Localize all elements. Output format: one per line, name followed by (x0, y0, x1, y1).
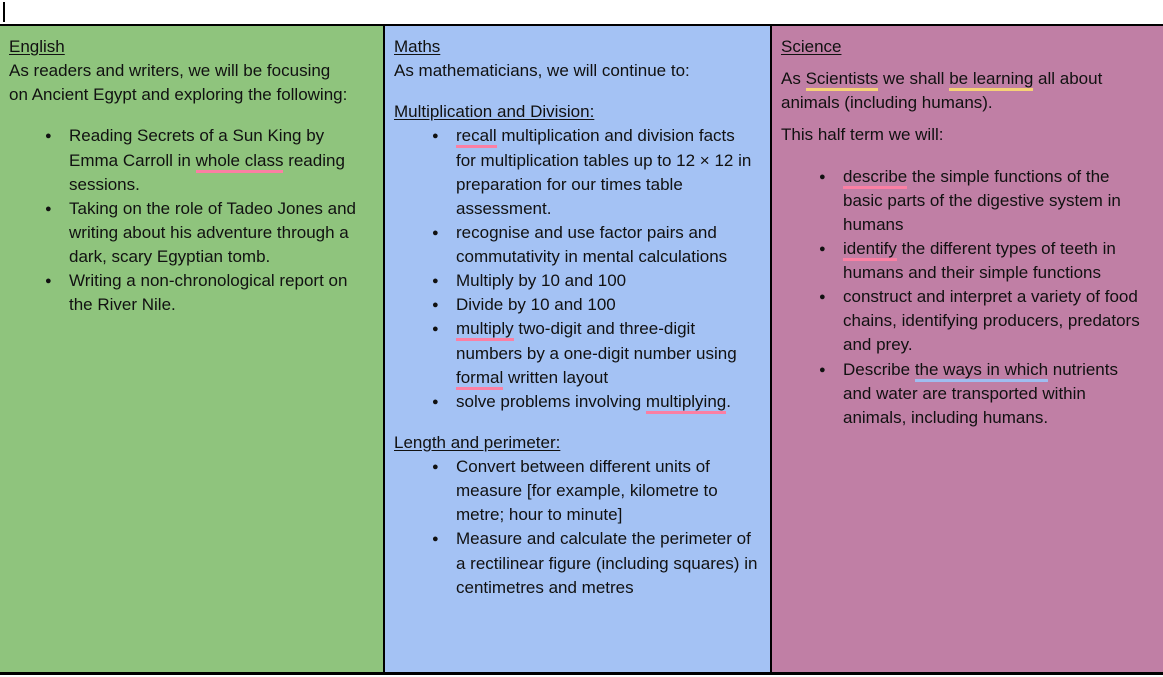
list-item: Divide by 10 and 100 (394, 293, 758, 317)
maths-heading: Maths (394, 35, 440, 59)
science-intro-mark-be-learning: be learning (949, 69, 1033, 91)
list-item: construct and interpret a variety of foo… (781, 285, 1151, 357)
column-science: Science As Scientists we shall be learni… (772, 26, 1163, 672)
science-intro-mark-scientists: Scientists (806, 69, 879, 91)
spacer (781, 148, 1151, 165)
bullet-marked-text: identify (843, 239, 897, 261)
science-subintro: This half term we will: (781, 123, 1151, 147)
bullet-text: solve problems involving (456, 392, 646, 411)
bullet-text: construct and interpret a variety of foo… (843, 287, 1140, 354)
document-top-strip (0, 0, 1163, 26)
bullet-marked-text: describe (843, 167, 907, 189)
list-item: Describe the ways in which nutrients and… (781, 358, 1151, 430)
bullet-marked-text: multiply (456, 319, 514, 341)
bullet-text: Taking on the role of Tadeo Jones and wr… (69, 199, 356, 266)
maths-intro: As mathematicians, we will continue to: (394, 59, 758, 83)
list-item: Convert between different units of measu… (394, 455, 758, 527)
list-item: solve problems involving multiplying. (394, 390, 758, 414)
maths-section2-bullet-list: Convert between different units of measu… (394, 455, 758, 600)
spacer (781, 59, 1151, 67)
maths-section1-bullet-list: recall multiplication and division facts… (394, 124, 758, 414)
bullet-marked-text: whole class (196, 151, 284, 173)
bullet-text: multiplication and division facts for mu… (456, 126, 751, 217)
list-item: Writing a non-chronological report on th… (9, 269, 371, 317)
list-item: Reading Secrets of a Sun King by Emma Ca… (9, 124, 371, 196)
bullet-text: Divide by 10 and 100 (456, 295, 616, 314)
list-item: Taking on the role of Tadeo Jones and wr… (9, 197, 371, 269)
curriculum-overview-page: English As readers and writers, we will … (0, 0, 1163, 677)
bullet-text: Convert between different units of measu… (456, 457, 718, 524)
maths-section1-heading: Multiplication and Division: (394, 100, 594, 124)
subjects-table: English As readers and writers, we will … (0, 26, 1163, 675)
spacer (781, 115, 1151, 123)
bullet-marked-text: the ways in which (915, 360, 1048, 382)
list-item: identify the different types of teeth in… (781, 237, 1151, 285)
bullet-text: Describe (843, 360, 915, 379)
science-intro: As Scientists we shall be learning all a… (781, 67, 1151, 115)
bullet-text: written layout (503, 368, 608, 387)
bullet-marked-text: multiplying (646, 392, 726, 414)
list-item: recognise and use factor pairs and commu… (394, 221, 758, 269)
bullet-marked-text: recall (456, 126, 497, 148)
bullet-text: . (726, 392, 731, 411)
bullet-text: Measure and calculate the perimeter of a… (456, 529, 757, 596)
list-item: Measure and calculate the perimeter of a… (394, 527, 758, 599)
list-item: multiply two-digit and three-digit numbe… (394, 317, 758, 389)
spacer (394, 83, 758, 100)
list-item: describe the simple functions of the bas… (781, 165, 1151, 237)
english-heading: English (9, 35, 65, 59)
english-intro-line1: As readers and writers, we will be focus… (9, 59, 371, 83)
spacer (9, 107, 371, 124)
text-caret (3, 2, 5, 22)
english-bullet-list: Reading Secrets of a Sun King by Emma Ca… (9, 124, 371, 317)
list-item: recall multiplication and division facts… (394, 124, 758, 221)
bullet-marked-text: formal (456, 368, 503, 390)
english-intro-line2: on Ancient Egypt and exploring the follo… (9, 83, 371, 107)
spacer (394, 414, 758, 431)
bullet-text: Writing a non-chronological report on th… (69, 271, 347, 314)
science-intro-mid: we shall (878, 69, 949, 88)
list-item: Multiply by 10 and 100 (394, 269, 758, 293)
bullet-text: recognise and use factor pairs and commu… (456, 223, 727, 266)
column-english: English As readers and writers, we will … (0, 26, 385, 672)
maths-section2-heading: Length and perimeter: (394, 431, 560, 455)
science-heading: Science (781, 35, 841, 59)
science-bullet-list: describe the simple functions of the bas… (781, 165, 1151, 430)
science-intro-pre: As (781, 69, 806, 88)
column-maths: Maths As mathematicians, we will continu… (385, 26, 772, 672)
bullet-text: Multiply by 10 and 100 (456, 271, 626, 290)
